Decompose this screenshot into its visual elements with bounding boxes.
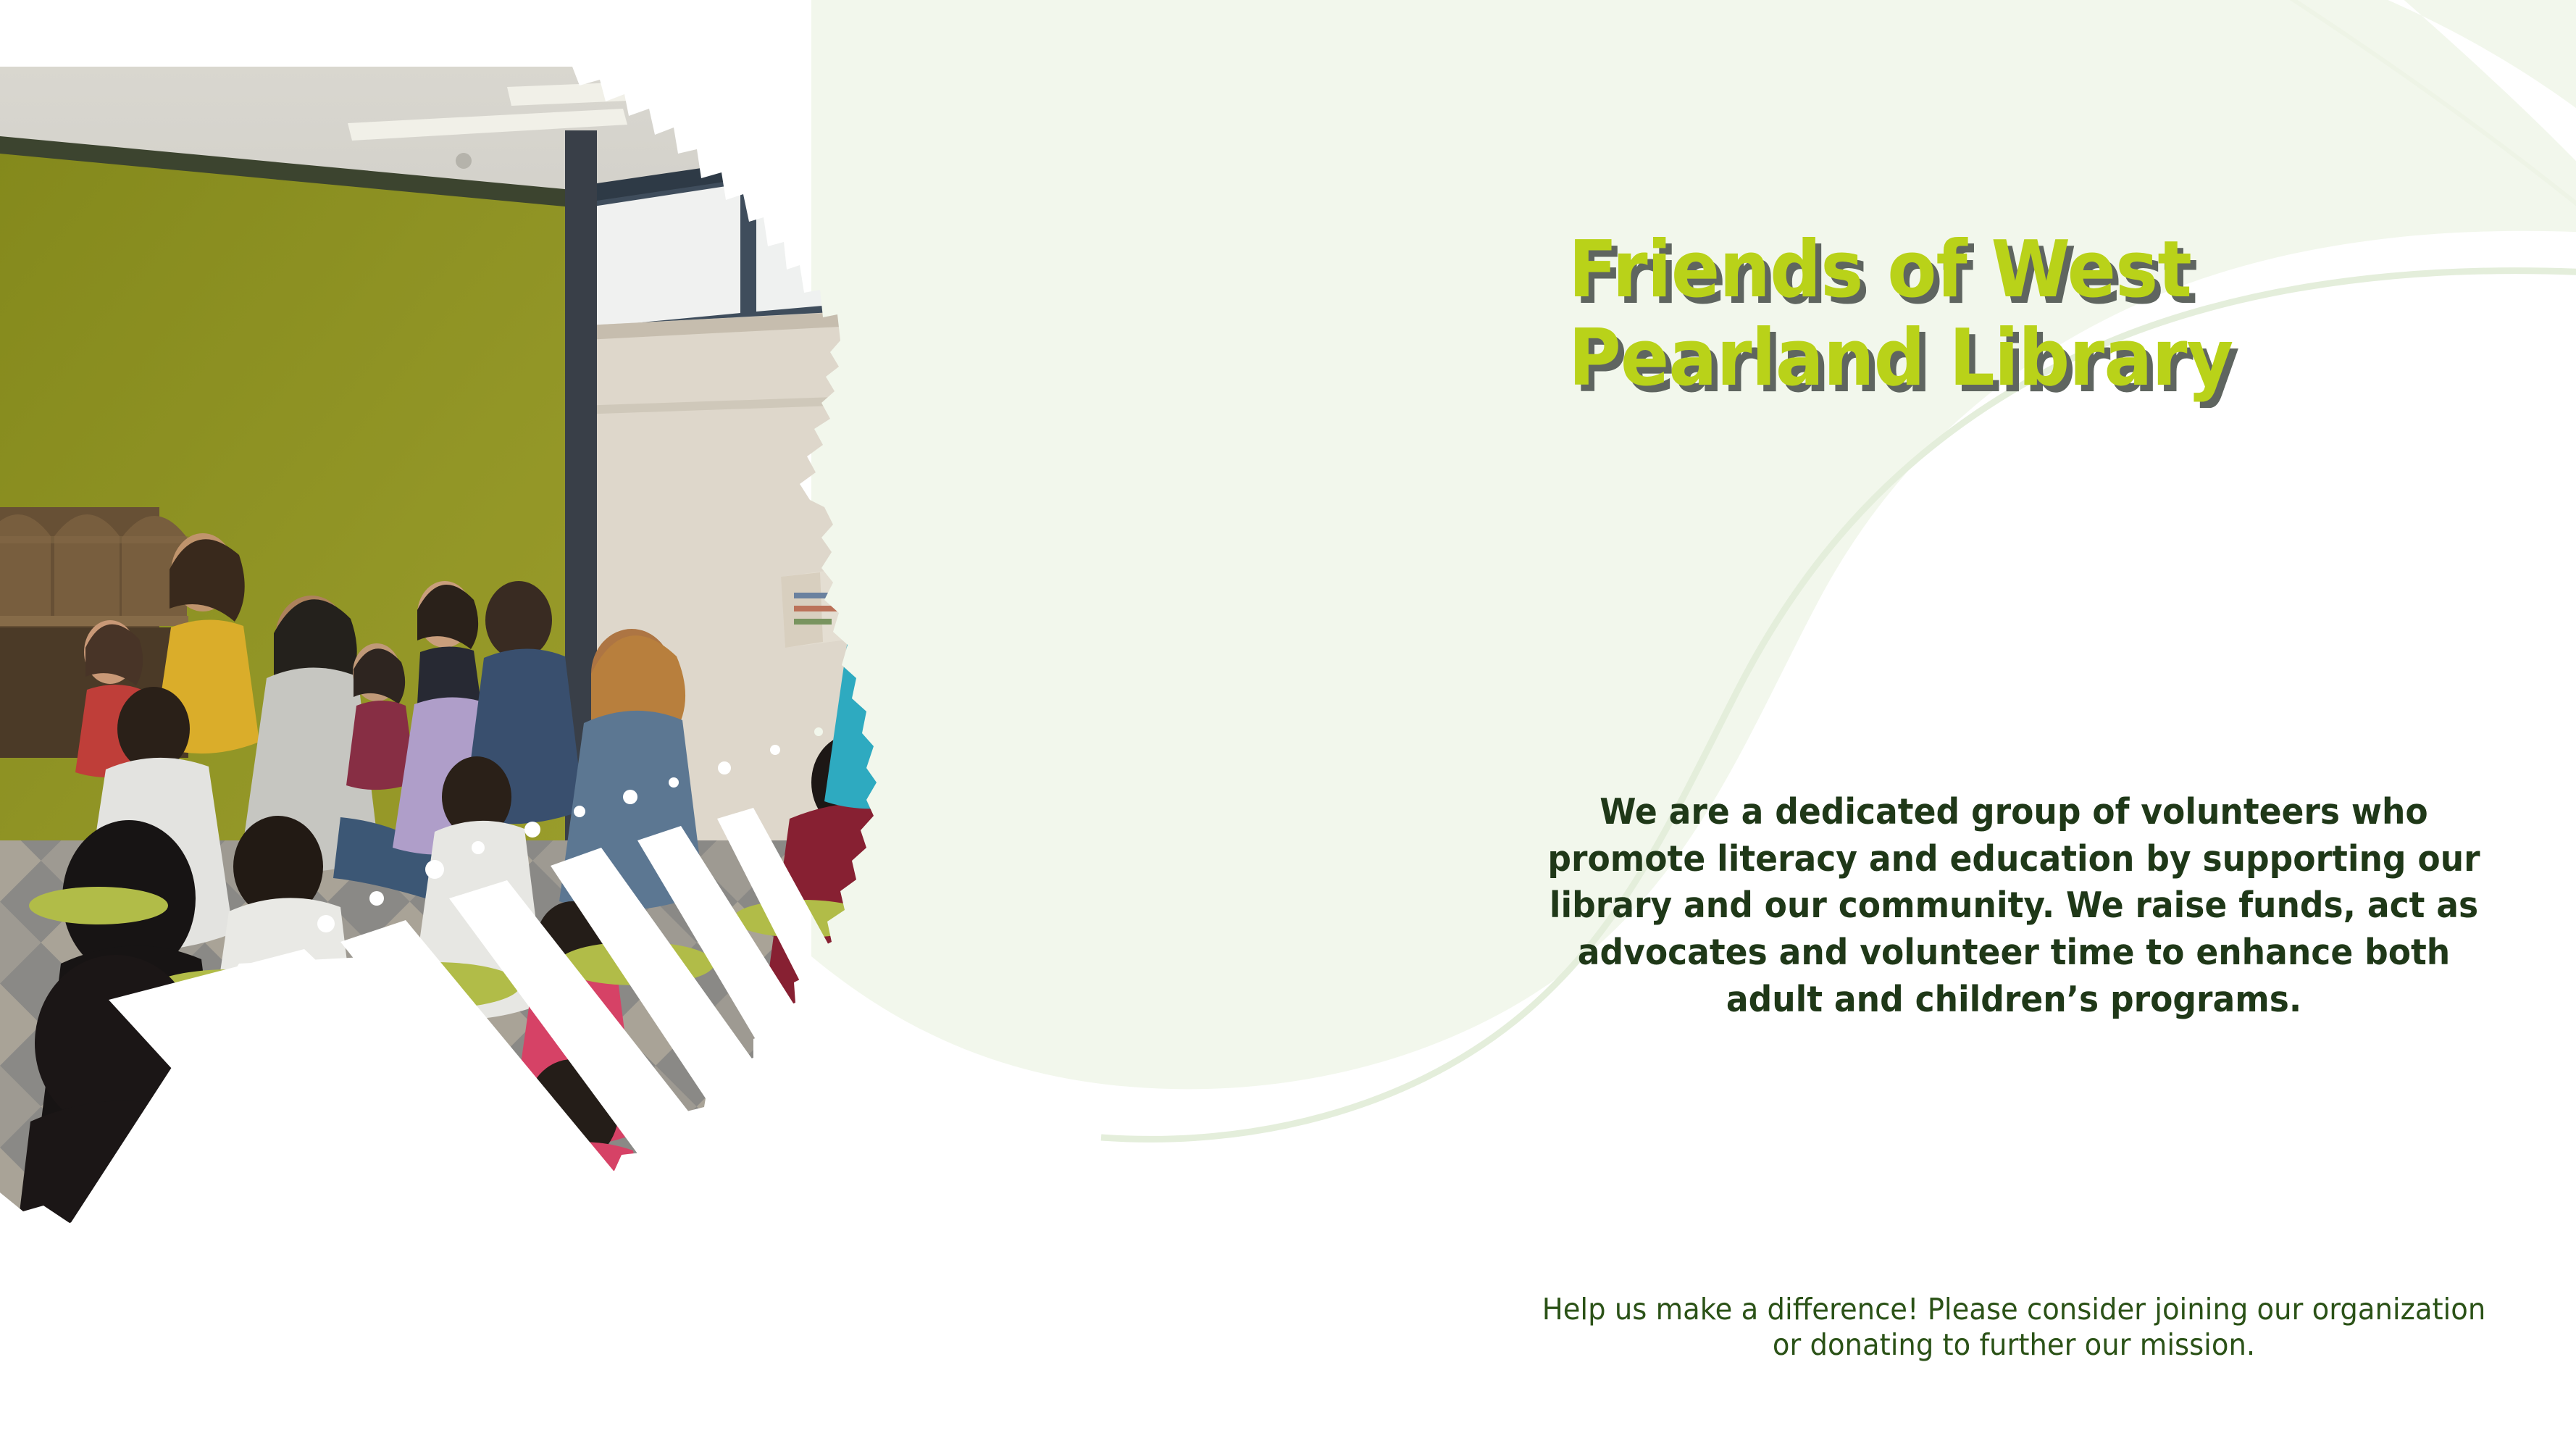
text-column: Friends of West Pearland Library We are … bbox=[1507, 0, 2576, 1449]
black-backpack bbox=[1059, 1027, 1146, 1137]
mission-statement: We are a dedicated group of volunteers w… bbox=[1542, 789, 2485, 1023]
screen-text-line1: Time For a bbox=[1161, 356, 1346, 400]
orange-bag bbox=[992, 783, 1097, 892]
presenter-table bbox=[1029, 638, 1521, 913]
wall-screen: Time For a Book! bbox=[996, 290, 1515, 507]
wall-cable bbox=[1376, 797, 1420, 906]
table-items bbox=[1366, 577, 1437, 656]
table-cable bbox=[1224, 667, 1260, 898]
screen-text-line2: Book! bbox=[1203, 406, 1303, 449]
library-storytime-photo: Time For a Book! bbox=[0, 0, 1529, 1449]
slide-canvas: Time For a Book! bbox=[0, 0, 2576, 1449]
laptop bbox=[1072, 546, 1166, 645]
call-to-action-text: Help us make a difference! Please consid… bbox=[1537, 1292, 2491, 1363]
screen-cloud-shape bbox=[1039, 296, 1485, 503]
photo-grade bbox=[0, 0, 1529, 1449]
page-title: Friends of West Pearland Library bbox=[1568, 226, 2422, 403]
